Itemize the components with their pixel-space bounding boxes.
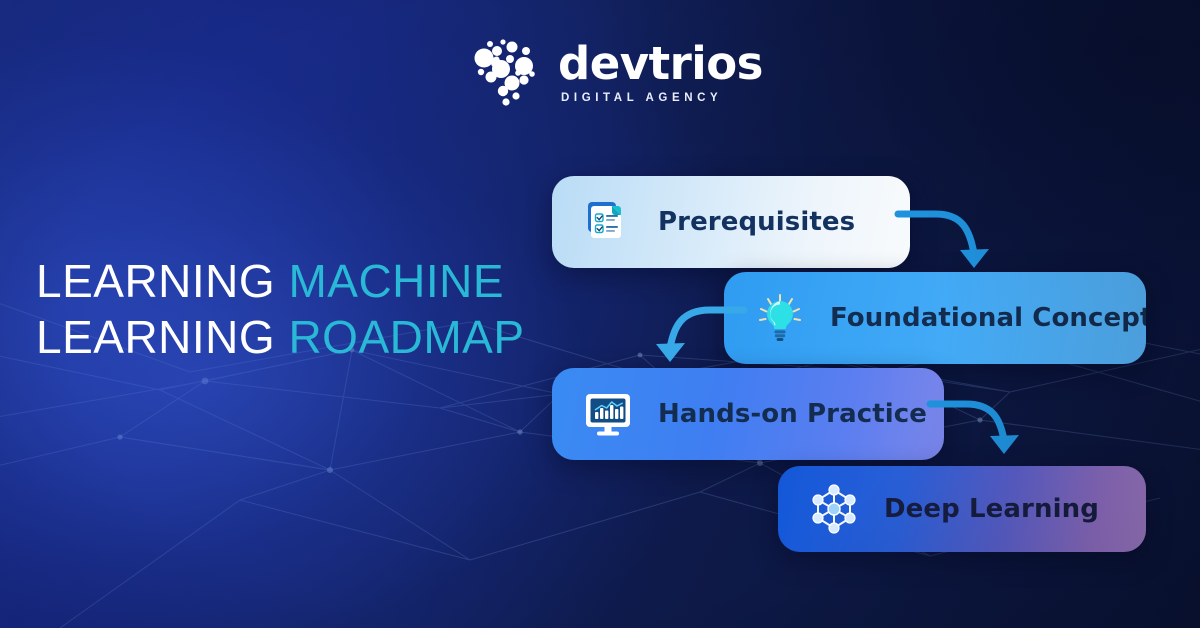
headline-line1-white: LEARNING: [36, 255, 275, 307]
neural-network-icon: [808, 483, 860, 535]
roadmap-step-hands-on-practice[interactable]: Hands-on Practice: [552, 368, 944, 460]
roadmap-step-deep-learning[interactable]: Deep Learning: [778, 466, 1146, 552]
brand-logo[interactable]: devtrios DIGITAL AGENCY: [466, 36, 763, 110]
roadmap-step-prerequisites[interactable]: Prerequisites: [552, 176, 910, 268]
checklist-document-icon-box: [580, 194, 636, 250]
brand-name: devtrios: [558, 42, 763, 86]
monitor-bar-chart-icon-box: [580, 386, 636, 442]
headline-line1-accent: MACHINE: [288, 255, 504, 307]
headline-line2-accent: ROADMAP: [288, 311, 524, 363]
roadmap-step-label: Prerequisites: [658, 207, 855, 237]
lightbulb-icon: [754, 292, 806, 344]
brain-dots-icon: [466, 36, 544, 110]
poster-canvas: devtrios DIGITAL AGENCY LEARNING MACHINE…: [0, 0, 1200, 628]
roadmap-step-foundational-concepts[interactable]: Foundational Concepts: [724, 272, 1146, 364]
left-glow-decoration: [0, 120, 580, 628]
roadmap-step-label: Deep Learning: [884, 494, 1099, 524]
headline-line-2: LEARNING ROADMAP: [36, 314, 525, 360]
lightbulb-icon-box: [752, 290, 808, 346]
monitor-bar-chart-icon: [582, 388, 634, 440]
headline-line2-white: LEARNING: [36, 311, 275, 363]
brand-tagline: DIGITAL AGENCY: [561, 92, 722, 104]
checklist-document-icon: [582, 196, 634, 248]
roadmap-step-label: Hands-on Practice: [658, 399, 927, 429]
roadmap-step-label: Foundational Concepts: [830, 303, 1146, 333]
headline-line-1: LEARNING MACHINE: [36, 258, 525, 304]
neural-network-icon-box: [806, 481, 862, 537]
page-title: LEARNING MACHINE LEARNING ROADMAP: [36, 258, 525, 370]
